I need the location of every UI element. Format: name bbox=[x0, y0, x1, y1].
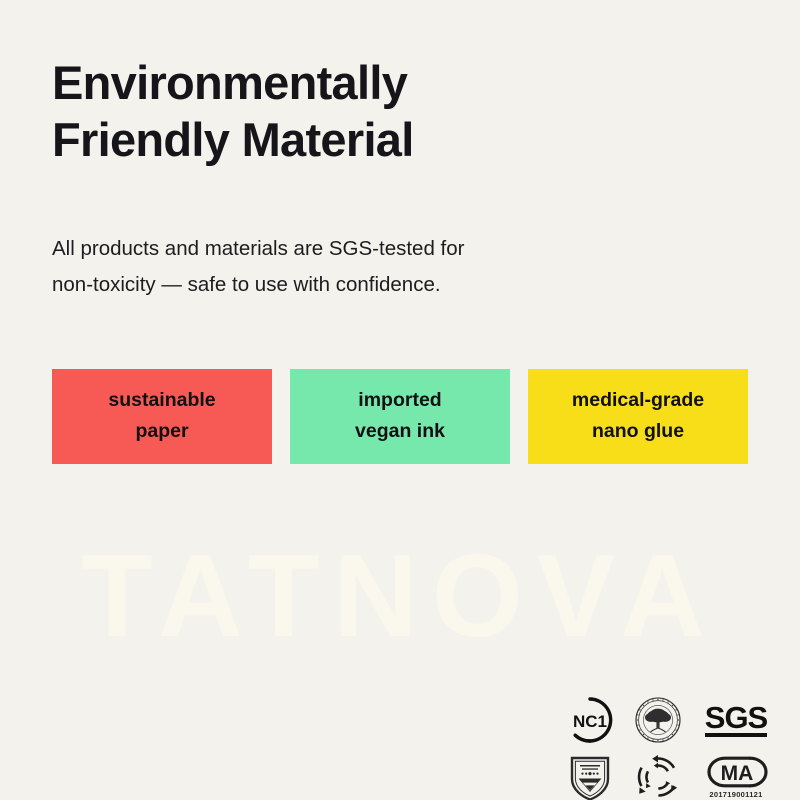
material-tag-vegan-ink: imported vegan ink bbox=[290, 369, 510, 464]
cma-mark-icon: MA 201719001121 bbox=[698, 752, 774, 800]
brand-watermark: TATNOVA bbox=[0, 537, 800, 654]
content-container: Environmentally Friendly Material All pr… bbox=[0, 54, 800, 464]
page-subtitle-line-2: non-toxicity — safe to use with confiden… bbox=[52, 267, 748, 303]
material-tag-label-line-1: medical-grade bbox=[572, 388, 704, 413]
material-tag-nano-glue: medical-grade nano glue bbox=[528, 369, 748, 464]
material-tag-list: sustainable paper imported vegan ink med… bbox=[52, 369, 748, 464]
material-tag-label-line-2: vegan ink bbox=[355, 419, 445, 444]
cma-certificate-number: 201719001121 bbox=[709, 790, 762, 799]
certification-row-bottom: MA 201719001121 bbox=[562, 752, 774, 800]
certification-row-top: NC1 bbox=[562, 695, 774, 745]
material-tag-label-line-2: paper bbox=[135, 419, 188, 444]
material-tag-label-line-1: sustainable bbox=[108, 388, 215, 413]
recycle-symbol-icon bbox=[630, 752, 686, 800]
page-title-line-1: Environmentally bbox=[52, 54, 748, 111]
shield-badge-icon bbox=[562, 752, 618, 800]
sgs-logo-text: SGS bbox=[705, 703, 767, 737]
page-subtitle: All products and materials are SGS-teste… bbox=[52, 231, 748, 304]
sgs-logo: SGS bbox=[698, 695, 774, 745]
page-title-line-2: Friendly Material bbox=[52, 111, 748, 168]
nc1-badge-icon: NC1 bbox=[562, 695, 618, 745]
material-tag-label-line-1: imported bbox=[358, 388, 441, 413]
tree-seal-icon bbox=[630, 695, 686, 745]
page-subtitle-line-1: All products and materials are SGS-teste… bbox=[52, 231, 748, 267]
svg-text:NC1: NC1 bbox=[573, 712, 607, 731]
page-title: Environmentally Friendly Material bbox=[52, 54, 748, 169]
cma-mark-letters: MA bbox=[721, 762, 754, 785]
material-tag-label-line-2: nano glue bbox=[592, 419, 684, 444]
material-tag-sustainable-paper: sustainable paper bbox=[52, 369, 272, 464]
certification-logo-group: NC1 bbox=[562, 695, 774, 800]
